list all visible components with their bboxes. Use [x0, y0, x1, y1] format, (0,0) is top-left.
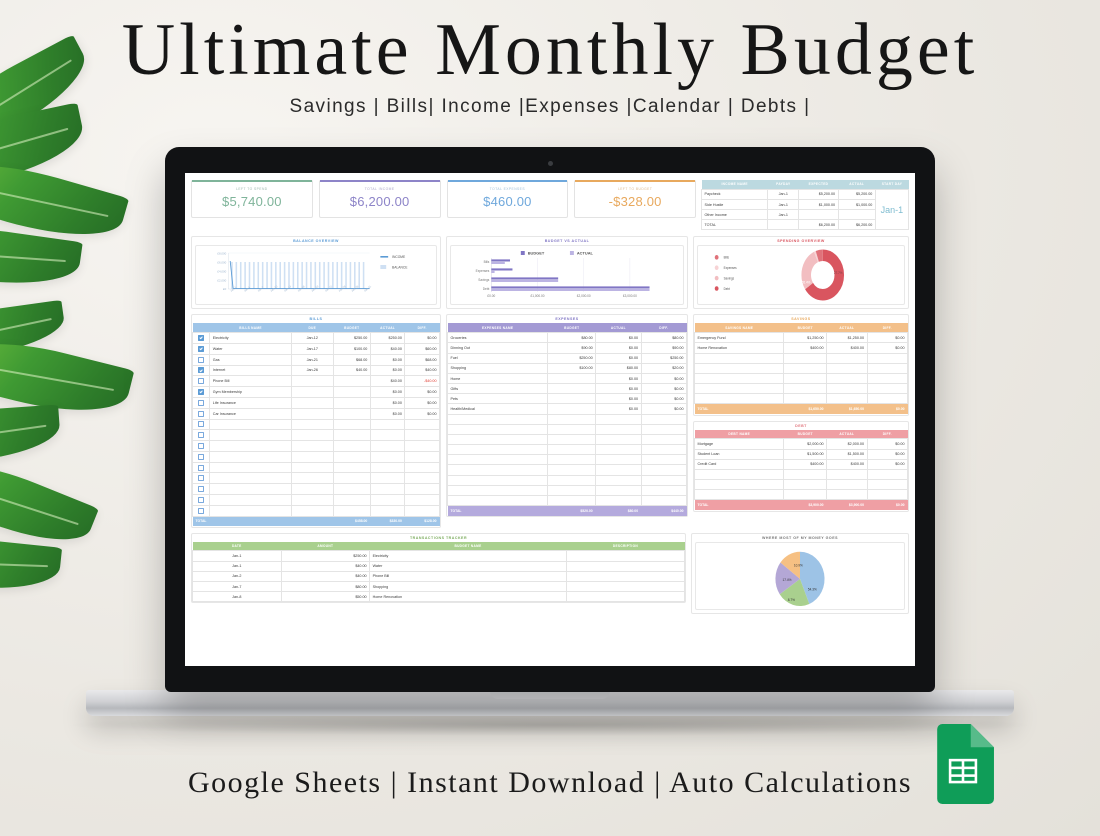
bills-paid-checkbox[interactable] [193, 365, 210, 376]
bills-paid-checkbox[interactable] [193, 354, 210, 365]
expenses-diff[interactable] [641, 496, 686, 506]
bills-name[interactable]: Gym Membership [210, 387, 292, 398]
expenses-panel[interactable]: EXPENSES EXPENSES NAME BUDGET ACTUAL DIF… [446, 314, 688, 517]
bills-paid-checkbox[interactable] [193, 505, 210, 516]
expenses-diff[interactable] [641, 475, 686, 485]
bills-name[interactable] [210, 462, 292, 473]
bills-budget[interactable] [333, 408, 370, 419]
bills-budget[interactable]: $250.00 [333, 333, 370, 344]
expenses-actual[interactable] [596, 485, 641, 495]
expenses-budget[interactable] [548, 434, 596, 444]
bills-budget[interactable] [333, 494, 370, 505]
expenses-diff[interactable] [641, 445, 686, 455]
savings-diff[interactable] [867, 373, 907, 383]
checkbox-icon[interactable] [198, 443, 204, 449]
svg-text:£2,000: £2,000 [217, 279, 226, 283]
expenses-actual[interactable]: $80.00 [596, 363, 641, 373]
checkbox-icon[interactable] [198, 454, 204, 460]
checkbox-icon[interactable] [198, 497, 204, 503]
savings-actual[interactable] [827, 384, 867, 394]
bills-due[interactable] [291, 408, 333, 419]
bills-paid-checkbox[interactable] [193, 430, 210, 441]
budget-vs-actual-panel[interactable]: BUDGET VS ACTUAL BUDGET ACTUAL BillsExpe… [446, 236, 688, 309]
bills-diff[interactable]: $0.00 [405, 408, 440, 419]
expenses-actual[interactable] [596, 465, 641, 475]
expenses-budget[interactable] [548, 455, 596, 465]
expenses-diff[interactable] [641, 424, 686, 434]
checkbox-icon[interactable] [198, 486, 204, 492]
kpi-card-total-income[interactable]: TOTAL INCOME $6,200.00 [319, 180, 441, 218]
income-name[interactable]: Paycheck [702, 189, 768, 199]
bills-name[interactable]: Life Insurance [210, 397, 292, 408]
debt-budget[interactable] [784, 480, 827, 490]
savings-name[interactable]: Home Renovation [695, 343, 784, 353]
debt-actual[interactable]: $400.00 [827, 459, 867, 469]
bills-budget[interactable] [333, 462, 370, 473]
transaction-date[interactable]: Jan-7 [193, 582, 282, 592]
bills-diff[interactable] [405, 430, 440, 441]
transaction-description[interactable] [566, 561, 684, 571]
bills-actual[interactable]: $0.00 [370, 365, 405, 376]
money-goes-panel[interactable]: WHERE MOST OF MY MONEY GOES 54.3% 17.4% … [691, 533, 909, 614]
bills-name[interactable]: Electricity [210, 333, 292, 344]
savings-name[interactable] [695, 353, 784, 363]
expenses-diff[interactable]: $0.00 [641, 404, 686, 414]
debt-actual[interactable] [827, 490, 867, 500]
bills-due[interactable] [291, 419, 333, 430]
bills-name[interactable]: Water [210, 344, 292, 355]
expenses-actual[interactable] [596, 445, 641, 455]
savings-budget[interactable]: $1,250.00 [784, 333, 827, 343]
debt-diff[interactable]: $0.00 [867, 439, 907, 449]
expenses-diff[interactable]: $80.00 [641, 333, 686, 343]
spending-overview-svg: Bills Expenses Savings Debt [701, 249, 901, 301]
transactions-panel[interactable]: TRANSACTIONS TRACKER DATE AMOUNT BUDGET … [191, 533, 686, 604]
bills-paid-checkbox[interactable] [193, 387, 210, 398]
bills-budget[interactable] [333, 441, 370, 452]
bills-budget[interactable] [333, 376, 370, 387]
google-sheets-icon [932, 724, 994, 804]
transaction-budget-name[interactable]: Electricity [370, 551, 567, 561]
expenses-diff[interactable]: $0.00 [641, 384, 686, 394]
income-actual[interactable] [838, 210, 875, 220]
debt-name[interactable] [695, 480, 784, 490]
svg-text:10.9%: 10.9% [794, 563, 803, 567]
checkbox-checked-icon[interactable] [198, 346, 204, 352]
bills-budget[interactable] [333, 505, 370, 516]
bills-actual[interactable] [370, 419, 405, 430]
checkbox-icon[interactable] [198, 411, 204, 417]
transaction-date[interactable]: Jan-8 [193, 592, 282, 602]
expenses-budget[interactable] [548, 384, 596, 394]
expenses-name[interactable] [448, 434, 548, 444]
transaction-date[interactable]: Jan-2 [193, 571, 282, 581]
bills-paid-checkbox[interactable] [193, 419, 210, 430]
expenses-budget[interactable] [548, 496, 596, 506]
bills-budget[interactable] [333, 473, 370, 484]
debt-diff[interactable]: $0.00 [867, 449, 907, 459]
debt-budget[interactable] [784, 490, 827, 500]
expenses-budget[interactable]: $80.00 [548, 333, 596, 343]
checkbox-icon[interactable] [198, 421, 204, 427]
transaction-description[interactable] [566, 551, 684, 561]
bills-budget[interactable]: $40.00 [333, 365, 370, 376]
expenses-budget[interactable]: $100.00 [548, 363, 596, 373]
bills-actual[interactable]: $40.00 [370, 344, 405, 355]
income-expected[interactable] [799, 210, 838, 220]
expenses-budget[interactable]: $250.00 [548, 353, 596, 363]
expenses-budget[interactable] [548, 445, 596, 455]
checkbox-checked-icon[interactable] [198, 335, 204, 341]
bills-name[interactable] [210, 451, 292, 462]
bills-budget[interactable] [333, 451, 370, 462]
expenses-actual[interactable]: $0.00 [596, 394, 641, 404]
expenses-actual[interactable] [596, 434, 641, 444]
budget-spreadsheet[interactable]: LEFT TO SPEND $5,740.00 TOTAL INCOME $6,… [185, 173, 915, 666]
bills-actual[interactable] [370, 484, 405, 495]
bills-paid-checkbox[interactable] [193, 494, 210, 505]
bills-paid-checkbox[interactable] [193, 473, 210, 484]
savings-budget[interactable] [784, 373, 827, 383]
bills-diff[interactable] [405, 484, 440, 495]
bills-due[interactable]: Jan-26 [291, 365, 333, 376]
transaction-amount[interactable]: $40.00 [281, 561, 370, 571]
bills-paid-checkbox[interactable] [193, 333, 210, 344]
income-expected[interactable]: $1,000.00 [799, 199, 838, 209]
transaction-amount[interactable]: $50.00 [281, 592, 370, 602]
expenses-diff[interactable]: $0.00 [641, 394, 686, 404]
bills-name[interactable] [210, 473, 292, 484]
debt-name[interactable]: Mortgage [695, 439, 784, 449]
bills-table[interactable]: BILLS NAME DUE BUDGET ACTUAL DIFF. Elect… [192, 323, 440, 526]
bills-actual[interactable] [370, 441, 405, 452]
savings-panel[interactable]: SAVINGS SAVINGS NAME BUDGET ACTUAL DIFF.… [693, 314, 909, 415]
bills-name[interactable] [210, 484, 292, 495]
savings-budget[interactable] [784, 384, 827, 394]
income-expected[interactable]: $5,200.00 [799, 189, 838, 199]
transaction-description[interactable] [566, 571, 684, 581]
bills-paid-checkbox[interactable] [193, 451, 210, 462]
expenses-actual[interactable] [596, 414, 641, 424]
bills-name[interactable]: Gas [210, 354, 292, 365]
bills-due[interactable]: Jan-12 [291, 333, 333, 344]
savings-diff[interactable]: $0.00 [867, 343, 907, 353]
bills-actual[interactable] [370, 430, 405, 441]
bills-budget[interactable]: $68.00 [333, 354, 370, 365]
bills-due[interactable] [291, 441, 333, 452]
expenses-diff[interactable] [641, 414, 686, 424]
checkbox-icon[interactable] [198, 378, 204, 384]
debt-budget[interactable] [784, 469, 827, 479]
savings-diff[interactable] [867, 353, 907, 363]
expenses-name[interactable]: Home [448, 373, 548, 383]
expenses-actual[interactable] [596, 455, 641, 465]
debt-actual[interactable]: $1,500.00 [827, 449, 867, 459]
bills-actual[interactable]: $40.00 [370, 376, 405, 387]
transaction-amount[interactable]: $40.00 [281, 571, 370, 581]
savings-actual[interactable] [827, 353, 867, 363]
expenses-name[interactable] [448, 455, 548, 465]
savings-diff[interactable] [867, 363, 907, 373]
bills-panel[interactable]: BILLS BILLS NAME DUE BUDGET ACTUAL DIFF.… [191, 314, 441, 527]
bills-actual[interactable] [370, 462, 405, 473]
bills-due[interactable]: Jan-21 [291, 354, 333, 365]
expenses-name[interactable]: Shopping [448, 363, 548, 373]
bills-name[interactable] [210, 419, 292, 430]
expenses-table[interactable]: EXPENSES NAME BUDGET ACTUAL DIFF. Grocer… [447, 323, 687, 516]
bills-paid-checkbox[interactable] [193, 484, 210, 495]
transactions-table[interactable]: DATE AMOUNT BUDGET NAME DESCRIPTION Jan-… [192, 542, 685, 603]
transaction-description[interactable] [566, 582, 684, 592]
debt-diff[interactable] [867, 469, 907, 479]
bills-name[interactable] [210, 494, 292, 505]
expenses-diff[interactable]: $0.00 [641, 373, 686, 383]
bills-actual[interactable] [370, 473, 405, 484]
bills-name[interactable]: Car Insurance [210, 408, 292, 419]
bills-due[interactable] [291, 462, 333, 473]
bills-paid-checkbox[interactable] [193, 344, 210, 355]
kpi-card-left-to-budget[interactable]: LEFT TO BUDGET -$328.00 [574, 180, 696, 218]
expenses-budget[interactable] [548, 485, 596, 495]
savings-name[interactable] [695, 394, 784, 404]
income-payday[interactable]: Jan-1 [768, 210, 799, 220]
bills-due[interactable] [291, 397, 333, 408]
bills-actual[interactable] [370, 451, 405, 462]
expenses-name[interactable]: Health/Medical [448, 404, 548, 414]
bills-due[interactable] [291, 430, 333, 441]
expenses-actual[interactable]: $0.00 [596, 353, 641, 363]
bills-due[interactable] [291, 451, 333, 462]
savings-actual[interactable] [827, 373, 867, 383]
savings-actual[interactable]: $1,250.00 [827, 333, 867, 343]
debt-name[interactable] [695, 490, 784, 500]
bills-actual[interactable]: $0.00 [370, 408, 405, 419]
table-row [695, 469, 908, 479]
savings-name[interactable] [695, 384, 784, 394]
bills-diff[interactable] [405, 441, 440, 452]
savings-budget[interactable] [784, 394, 827, 404]
savings-actual[interactable] [827, 363, 867, 373]
bills-diff[interactable]: $0.00 [405, 333, 440, 344]
bills-budget[interactable] [333, 387, 370, 398]
savings-name[interactable] [695, 373, 784, 383]
spending-overview-panel[interactable]: SPENDING OVERVIEW Bills Expenses Savings [693, 236, 909, 309]
savings-budget[interactable] [784, 363, 827, 373]
expenses-name[interactable]: Gifts [448, 384, 548, 394]
expenses-name[interactable] [448, 465, 548, 475]
bills-due[interactable] [291, 494, 333, 505]
expenses-name[interactable] [448, 424, 548, 434]
checkbox-icon[interactable] [198, 465, 204, 471]
income-panel[interactable]: INCOME NAME PAYDAY EXPECTED ACTUAL START… [701, 180, 909, 230]
checkbox-icon[interactable] [198, 400, 204, 406]
debt-col-diff: DIFF. [867, 430, 907, 439]
expenses-name[interactable]: Fuel [448, 353, 548, 363]
transaction-amount[interactable]: $80.00 [281, 582, 370, 592]
expenses-actual[interactable]: $0.00 [596, 384, 641, 394]
debt-actual[interactable] [827, 469, 867, 479]
bills-name[interactable]: Phone Bill [210, 376, 292, 387]
bills-budget[interactable]: $100.00 [333, 344, 370, 355]
expenses-name[interactable]: Dinning Out [448, 343, 548, 353]
checkbox-icon[interactable] [198, 432, 204, 438]
bills-actual[interactable]: $0.00 [370, 387, 405, 398]
bills-paid-checkbox[interactable] [193, 441, 210, 452]
income-table[interactable]: INCOME NAME PAYDAY EXPECTED ACTUAL START… [701, 180, 909, 230]
bills-diff[interactable]: $68.00 [405, 354, 440, 365]
income-actual[interactable]: $1,000.00 [838, 199, 875, 209]
expenses-diff[interactable] [641, 434, 686, 444]
bills-budget[interactable] [333, 419, 370, 430]
expenses-name[interactable] [448, 445, 548, 455]
transaction-description[interactable] [566, 592, 684, 602]
balance-overview-panel[interactable]: BALANCE OVERVIEW £8,000£6,000 £4,000£2,0… [191, 236, 441, 309]
checkbox-checked-icon[interactable] [198, 389, 204, 395]
expenses-actual[interactable]: $0.00 [596, 333, 641, 343]
bills-due[interactable] [291, 505, 333, 516]
debt-name[interactable]: Student Loan [695, 449, 784, 459]
debt-name[interactable] [695, 469, 784, 479]
expenses-diff[interactable] [641, 455, 686, 465]
savings-name[interactable] [695, 363, 784, 373]
expenses-name[interactable]: Groceries [448, 333, 548, 343]
expenses-diff[interactable] [641, 485, 686, 495]
income-name[interactable]: Side Hustle [702, 199, 768, 209]
debt-actual[interactable]: $2,000.00 [827, 439, 867, 449]
income-name[interactable]: Other Income [702, 210, 768, 220]
bills-actual[interactable]: $250.00 [370, 333, 405, 344]
income-payday[interactable]: Jan-1 [768, 199, 799, 209]
bills-paid-checkbox[interactable] [193, 462, 210, 473]
expenses-budget[interactable] [548, 373, 596, 383]
bills-diff[interactable]: $60.00 [405, 344, 440, 355]
savings-diff[interactable] [867, 384, 907, 394]
bills-due[interactable] [291, 376, 333, 387]
expenses-budget[interactable] [548, 424, 596, 434]
bills-diff[interactable] [405, 494, 440, 505]
savings-diff[interactable] [867, 394, 907, 404]
expenses-diff[interactable]: $90.00 [641, 343, 686, 353]
transaction-budget-name[interactable]: Phone Bill [370, 571, 567, 581]
debt-budget[interactable]: $400.00 [784, 459, 827, 469]
debt-budget[interactable]: $2,000.00 [784, 439, 827, 449]
checkbox-icon[interactable] [198, 357, 204, 363]
bills-diff[interactable]: $0.00 [405, 397, 440, 408]
expenses-diff[interactable]: $250.00 [641, 353, 686, 363]
transaction-date[interactable]: Jan-1 [193, 561, 282, 571]
expenses-actual[interactable]: $0.00 [596, 373, 641, 383]
savings-diff[interactable]: $0.00 [867, 333, 907, 343]
bills-due[interactable] [291, 387, 333, 398]
kpi-card-left-to-spend[interactable]: LEFT TO SPEND $5,740.00 [191, 180, 313, 218]
expenses-actual[interactable]: $0.00 [596, 343, 641, 353]
savings-actual[interactable]: $400.00 [827, 343, 867, 353]
savings-actual[interactable] [827, 394, 867, 404]
bills-actual[interactable] [370, 494, 405, 505]
bills-actual[interactable] [370, 505, 405, 516]
expenses-budget[interactable] [548, 414, 596, 424]
bills-actual[interactable]: $0.00 [370, 354, 405, 365]
debt-col-name: DEBT NAME [695, 430, 784, 439]
debt-diff[interactable] [867, 480, 907, 490]
expenses-name[interactable]: Pets [448, 394, 548, 404]
bills-name[interactable] [210, 441, 292, 452]
bills-paid-checkbox[interactable] [193, 408, 210, 419]
expenses-actual[interactable] [596, 496, 641, 506]
checkbox-icon[interactable] [198, 475, 204, 481]
transaction-budget-name[interactable]: Home Renovation [370, 592, 567, 602]
expenses-name[interactable] [448, 475, 548, 485]
bills-diff[interactable] [405, 473, 440, 484]
debt-diff[interactable] [867, 490, 907, 500]
bills-budget[interactable] [333, 397, 370, 408]
expenses-budget[interactable] [548, 394, 596, 404]
expenses-name[interactable] [448, 496, 548, 506]
bills-due[interactable] [291, 473, 333, 484]
transaction-budget-name[interactable]: Water [370, 561, 567, 571]
income-actual[interactable]: $5,200.00 [838, 189, 875, 199]
expenses-budget[interactable] [548, 465, 596, 475]
bills-diff[interactable] [405, 505, 440, 516]
expenses-actual[interactable] [596, 475, 641, 485]
bills-paid-checkbox[interactable] [193, 397, 210, 408]
bills-name[interactable] [210, 505, 292, 516]
bills-diff[interactable] [405, 462, 440, 473]
income-payday[interactable]: Jan-1 [768, 189, 799, 199]
bills-diff[interactable]: $40.00 [405, 365, 440, 376]
bills-diff[interactable] [405, 451, 440, 462]
expenses-budget[interactable] [548, 475, 596, 485]
debt-diff[interactable]: $0.00 [867, 459, 907, 469]
bills-due[interactable]: Jan-17 [291, 344, 333, 355]
expenses-name[interactable] [448, 414, 548, 424]
bills-paid-checkbox[interactable] [193, 376, 210, 387]
expenses-diff[interactable] [641, 465, 686, 475]
debt-budget[interactable]: $1,500.00 [784, 449, 827, 459]
debt-actual[interactable] [827, 480, 867, 490]
bills-budget[interactable] [333, 484, 370, 495]
expenses-budget[interactable] [548, 404, 596, 414]
expenses-actual[interactable]: $0.00 [596, 404, 641, 414]
savings-table[interactable]: SAVINGS NAME BUDGET ACTUAL DIFF. Emergen… [694, 323, 908, 414]
bills-budget[interactable] [333, 430, 370, 441]
debt-table[interactable]: DEBT NAME BUDGET ACTUAL DIFF. Mortgage$2… [694, 430, 908, 511]
debt-name[interactable]: Credit Card [695, 459, 784, 469]
expenses-budget[interactable]: $90.00 [548, 343, 596, 353]
savings-name[interactable]: Emergency Fund [695, 333, 784, 343]
savings-budget[interactable]: $400.00 [784, 343, 827, 353]
bills-due[interactable] [291, 484, 333, 495]
transaction-amount[interactable]: $250.00 [281, 551, 370, 561]
bills-diff[interactable] [405, 419, 440, 430]
bills-actual[interactable]: $0.00 [370, 397, 405, 408]
kpi-card-total-expenses[interactable]: TOTAL EXPENSES $460.00 [447, 180, 569, 218]
checkbox-icon[interactable] [198, 508, 204, 514]
bills-name[interactable] [210, 430, 292, 441]
expenses-actual[interactable] [596, 424, 641, 434]
expenses-diff[interactable]: $20.00 [641, 363, 686, 373]
bills-diff[interactable]: -$40.00 [405, 376, 440, 387]
expenses-name[interactable] [448, 485, 548, 495]
savings-budget[interactable] [784, 353, 827, 363]
bills-diff[interactable]: $0.00 [405, 387, 440, 398]
transaction-budget-name[interactable]: Shopping [370, 582, 567, 592]
checkbox-checked-icon[interactable] [198, 367, 204, 373]
debt-panel[interactable]: DEBT DEBT NAME BUDGET ACTUAL DIFF. Mortg… [693, 421, 909, 512]
income-total-label: TOTAL [702, 220, 768, 230]
bills-name[interactable]: Internet [210, 365, 292, 376]
transaction-date[interactable]: Jan-1 [193, 551, 282, 561]
